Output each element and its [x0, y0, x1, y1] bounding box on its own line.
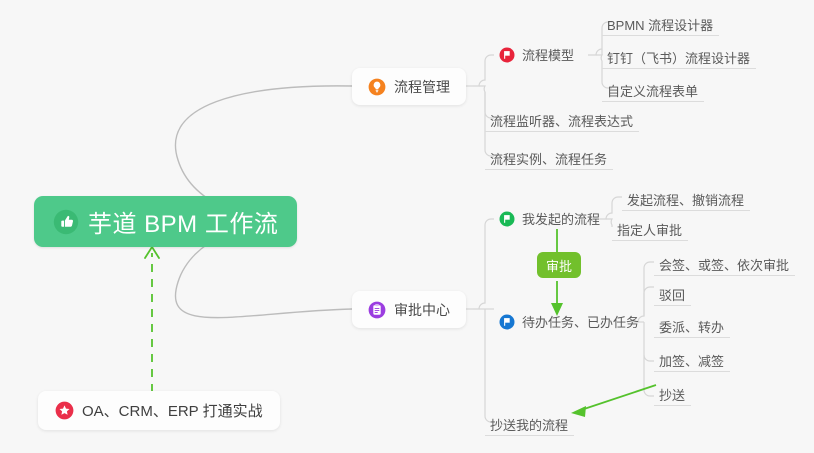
branch-node-approval-center[interactable]: 审批中心	[352, 291, 466, 328]
mindmap-canvas: 芋道 BPM 工作流 流程管理 流程模型 BPMN 流程设计器 钉钉（飞书）流程	[0, 0, 814, 453]
node-process-model-label: 流程模型	[522, 49, 574, 62]
node-assignee-approval[interactable]: 指定人审批	[612, 213, 688, 241]
annotation-chip-approval: 审批	[537, 252, 581, 278]
node-process-instance[interactable]: 流程实例、流程任务	[485, 142, 613, 170]
node-process-instance-label: 流程实例、流程任务	[490, 153, 607, 166]
node-my-started-processes-label: 我发起的流程	[522, 213, 600, 226]
star-icon	[55, 401, 74, 420]
lightbulb-icon	[368, 78, 386, 96]
node-countersign-label: 会签、或签、依次审批	[659, 259, 789, 272]
node-reject[interactable]: 驳回	[654, 278, 691, 306]
footer-node-integration[interactable]: OA、CRM、ERP 打通实战	[38, 391, 280, 430]
node-add-remove-sign-label: 加签、减签	[659, 355, 724, 368]
node-cc-label: 抄送	[659, 389, 685, 402]
node-bpmn-designer-label: BPMN 流程设计器	[607, 19, 713, 32]
root-node-label: 芋道 BPM 工作流	[88, 204, 278, 239]
node-dingtalk-designer[interactable]: 钉钉（飞书）流程设计器	[602, 41, 756, 69]
root-node[interactable]: 芋道 BPM 工作流	[34, 196, 297, 247]
node-launch-cancel-process[interactable]: 发起流程、撤销流程	[622, 183, 750, 211]
node-delegate-transfer[interactable]: 委派、转办	[654, 310, 730, 338]
node-process-model[interactable]: 流程模型	[494, 41, 580, 69]
edge-ac-to-my-started	[473, 219, 494, 309]
node-add-remove-sign[interactable]: 加签、减签	[654, 344, 730, 372]
node-reject-label: 驳回	[659, 289, 685, 302]
branch-label-approval-center: 审批中心	[394, 300, 450, 320]
clipboard-icon	[368, 301, 386, 319]
node-delegate-transfer-label: 委派、转办	[659, 321, 724, 334]
flag-icon	[499, 211, 515, 227]
node-dingtalk-designer-label: 钉钉（飞书）流程设计器	[607, 52, 750, 65]
annotation-chip-approval-label: 审批	[546, 256, 572, 275]
node-cc[interactable]: 抄送	[654, 378, 691, 406]
edge-ac-to-cc-mine	[485, 309, 494, 422]
footer-node-label: OA、CRM、ERP 打通实战	[82, 400, 263, 421]
edge-pm-to-process-model	[473, 55, 494, 86]
edge-todo-to-reject	[644, 287, 654, 316]
arrow-cc-link	[578, 385, 656, 411]
branch-label-process-management: 流程管理	[394, 77, 450, 97]
node-process-listener-label: 流程监听器、流程表达式	[490, 115, 633, 128]
node-custom-form[interactable]: 自定义流程表单	[602, 74, 704, 102]
node-launch-cancel-process-label: 发起流程、撤销流程	[627, 194, 744, 207]
node-countersign[interactable]: 会签、或签、依次审批	[654, 248, 795, 276]
branch-node-process-management[interactable]: 流程管理	[352, 68, 466, 105]
node-cc-to-me-processes-label: 抄送我的流程	[490, 419, 568, 432]
node-custom-form-label: 自定义流程表单	[607, 85, 698, 98]
edge-todo-to-addsign	[644, 322, 654, 361]
node-my-started-processes[interactable]: 我发起的流程	[494, 205, 606, 233]
flag-icon	[499, 314, 515, 330]
flag-icon	[499, 47, 515, 63]
node-bpmn-designer[interactable]: BPMN 流程设计器	[602, 8, 719, 36]
node-todo-done-tasks[interactable]: 待办任务、已办任务	[494, 308, 645, 336]
node-cc-to-me-processes[interactable]: 抄送我的流程	[485, 408, 574, 436]
node-todo-done-tasks-label: 待办任务、已办任务	[522, 316, 639, 329]
node-assignee-approval-label: 指定人审批	[617, 224, 682, 237]
node-process-listener[interactable]: 流程监听器、流程表达式	[485, 104, 639, 132]
arrow-footer-head-icon	[145, 247, 159, 258]
edge-todo-to-cc	[644, 355, 654, 396]
thumbs-up-icon	[53, 209, 79, 235]
